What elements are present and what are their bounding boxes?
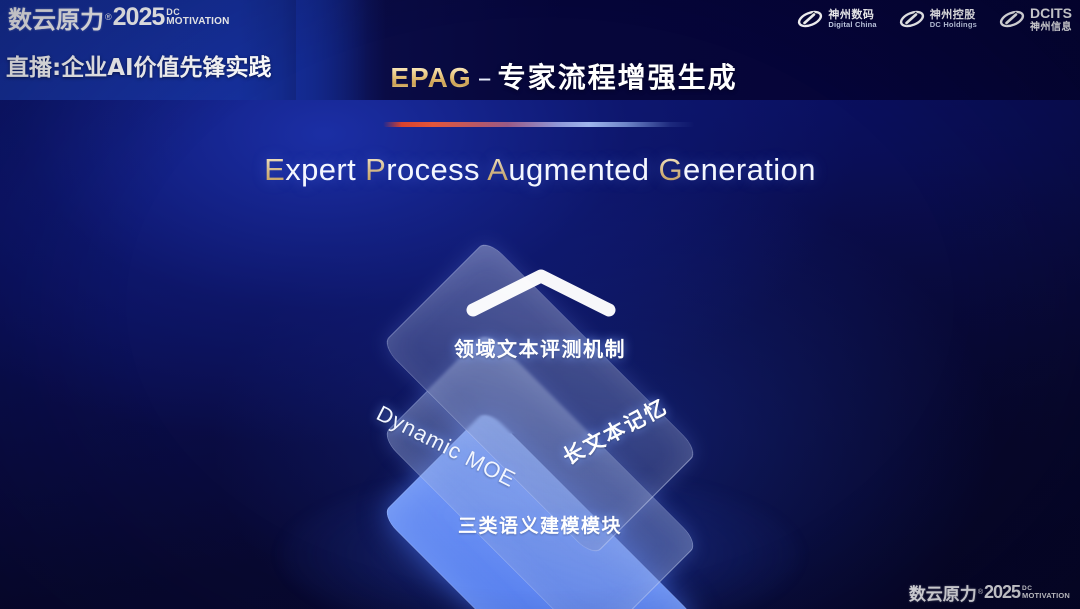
acronym-expansion: Expert Process Augmented Generation (0, 152, 1080, 188)
partner-name-cn: 神州信息 (1030, 22, 1072, 33)
watermark-dc-motivation: DC MOTIVATION (1022, 586, 1070, 600)
expansion-rest-generation: eneration (683, 152, 816, 187)
partner-name-en: DC Holdings (930, 21, 977, 29)
stack-glow (280, 470, 800, 609)
partner-name-en: Digital China (828, 21, 876, 29)
watermark-registered-mark: ® (978, 589, 983, 596)
brand-logo: 数云原力 ® 2025 DC MOTIVATION (8, 4, 230, 30)
diagram-layer-middle-label-right: 长文本记忆 (557, 391, 673, 471)
title-divider (383, 122, 695, 127)
expansion-cap-p: P (365, 152, 386, 187)
swoosh-icon (999, 8, 1025, 30)
partner-logos: 神州数码 Digital China 神州控股 DC Holdings (797, 6, 1072, 33)
chevron-up-icon (463, 266, 619, 318)
watermark-name-cn: 数云原力 (909, 580, 977, 605)
diagram-layer-top-label: 领域文本评测机制 (0, 333, 1080, 362)
diagram-layer-top (381, 239, 699, 557)
expansion-rest-augmented: ugmented (508, 152, 649, 187)
expansion-cap-e: E (264, 152, 285, 187)
brand-watermark: 数云原力 ® 2025 DC MOTIVATION (909, 580, 1070, 605)
partner-logo-dcits: DCITS 神州信息 (999, 6, 1072, 33)
expansion-cap-a: A (487, 152, 508, 187)
brand-dc-line2: MOTIVATION (166, 17, 229, 27)
diagram-layer-bottom (381, 409, 699, 609)
partner-logo-dc-holdings: 神州控股 DC Holdings (899, 8, 977, 30)
diagram-layer-bottom-label: 三类语义建模模块 (0, 511, 1080, 538)
expansion-rest-process: rocess (386, 152, 480, 187)
partner-logo-digital-china: 神州数码 Digital China (797, 8, 876, 30)
partner-name-en: DCITS (1030, 6, 1072, 22)
brand-year: 2025 (113, 3, 165, 32)
registered-mark: ® (105, 12, 112, 22)
brand-dc-motivation: DC MOTIVATION (166, 8, 229, 27)
title-chinese: 专家流程增强生成 (498, 61, 738, 94)
expansion-rest-expert: xpert (285, 152, 356, 187)
brand-name-cn: 数云原力 (8, 0, 104, 35)
swoosh-icon (899, 8, 925, 30)
swoosh-icon (797, 8, 823, 30)
watermark-dc-line2: MOTIVATION (1022, 592, 1070, 600)
title-dash: – (478, 61, 492, 94)
expansion-cap-g: G (658, 152, 683, 187)
watermark-year: 2025 (984, 582, 1020, 603)
title-acronym: EPAG (390, 62, 471, 93)
diagram-layer-middle (381, 331, 699, 609)
slide-canvas: 数云原力 ® 2025 DC MOTIVATION 直播:企业AI价值先锋实践 (0, 0, 1080, 609)
page-title: EPAG–专家流程增强生成 (0, 56, 1080, 96)
diagram-layer-middle-label-left: Dynamic MOE (372, 400, 520, 493)
